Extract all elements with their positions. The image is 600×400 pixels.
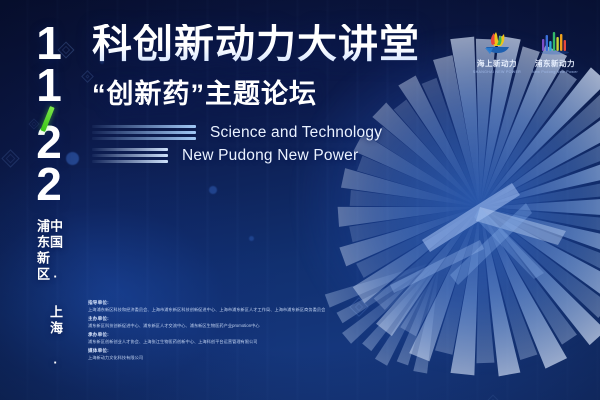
- pudong-logo-en: New Pudong New Power: [532, 70, 578, 74]
- english-line-1-row: Science and Technology: [92, 124, 422, 142]
- rainbow-bars-icon: [539, 30, 571, 56]
- event-poster: 1 1 2 2 中国 · 上海 · 浦东新区 科创新动力大讲堂 “创新药”主题论…: [0, 0, 600, 400]
- credits-block: 指导单位: 上海浦东新区科技和经济委员会、上海市浦东新区科技创新促进中心、上海市…: [88, 300, 388, 364]
- shanghai-logo-en: SHANGHAI NEW POWER: [473, 70, 521, 74]
- credit-label: 承办单位:: [88, 332, 388, 339]
- flame-sail-icon: [482, 30, 512, 56]
- credit-body: 浦东新区创新创业人才协会、上海张江生物医药创新中心、上海科创平台运营管理有限公司: [88, 339, 388, 346]
- english-line-1: Science and Technology: [210, 124, 382, 142]
- credit-body: 上海新动力文化科技有限公司: [88, 355, 388, 362]
- credit-label: 主办单位:: [88, 316, 388, 323]
- title-sub: “创新药”主题论坛: [92, 72, 422, 111]
- shanghai-logo: 海上新动力 SHANGHAI NEW POWER: [473, 30, 521, 74]
- date-digit: 1: [36, 64, 62, 106]
- logo-group: 海上新动力 SHANGHAI NEW POWER 浦东新动力 New Pudon…: [473, 30, 578, 74]
- date-digit: 2: [36, 163, 62, 205]
- credit-body: 浦东新区科技创新促进中心、浦东新区人才交流中心、浦东新区生物医药产业promot…: [88, 323, 388, 330]
- decor-bars-icon: [92, 125, 196, 140]
- credit-body: 上海浦东新区科技和经济委员会、上海市浦东新区科技创新促进中心、上海市浦东新区人才…: [88, 307, 388, 314]
- shanghai-logo-cn: 海上新动力: [477, 58, 517, 69]
- pudong-logo: 浦东新动力 New Pudong New Power: [532, 30, 578, 74]
- title-main: 科创新动力大讲堂: [92, 24, 422, 65]
- english-line-2-row: New Pudong New Power: [92, 147, 422, 165]
- english-line-2: New Pudong New Power: [182, 147, 358, 165]
- credit-label: 媒体单位:: [88, 348, 388, 355]
- pudong-logo-cn: 浦东新动力: [535, 58, 575, 69]
- slash-icon: [36, 106, 62, 124]
- location-text: 中国 · 上海 · 浦东新区: [36, 219, 62, 382]
- credit-label: 指导单位:: [88, 300, 388, 307]
- headline-block: 科创新动力大讲堂 “创新药”主题论坛 Science and Technolog…: [92, 24, 422, 165]
- decor-bars-icon: [92, 148, 168, 163]
- date-digit: 1: [36, 22, 62, 64]
- date-column: 1 1 2 2 中国 · 上海 · 浦东新区: [18, 22, 80, 382]
- date-digit: 2: [36, 121, 62, 163]
